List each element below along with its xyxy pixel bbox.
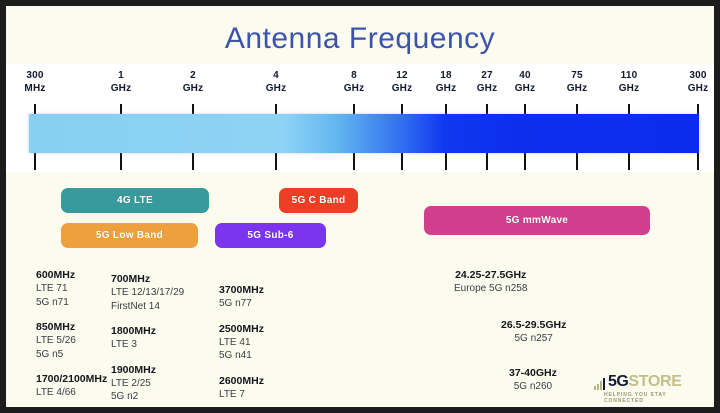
frequency-band-name: 5G n77 <box>219 297 264 311</box>
tick-value: 18 <box>440 70 452 81</box>
frequency-band-name: LTE 3 <box>111 338 184 352</box>
frequency-band-name: LTE 71 <box>36 282 107 296</box>
band-pill: 5G Low Band <box>61 223 198 248</box>
tick-value: 1 <box>118 70 124 81</box>
axis-tick-label: 300MHz <box>7 70 63 95</box>
frequency-entry: 37-40GHz5G n260 <box>509 366 557 394</box>
frequency-entry: 3700MHz5G n77 <box>219 283 264 311</box>
frequency-column: 700MHzLTE 12/13/17/29FirstNet 141800MHzL… <box>111 272 184 407</box>
frequency-column: 3700MHz5G n772500MHzLTE 415G n412600MHzL… <box>219 283 264 407</box>
frequency-value: 3700MHz <box>219 283 264 297</box>
frequency-band-name: LTE 4/66 <box>36 386 107 400</box>
frequency-band-name: 5G n5 <box>36 348 107 362</box>
frequency-entry: 700MHzLTE 12/13/17/29FirstNet 14 <box>111 272 184 313</box>
tick-value: 27 <box>481 70 493 81</box>
axis-tick-label: 2GHz <box>165 70 221 95</box>
frequency-band-name: 5G n2 <box>111 390 184 404</box>
antenna-frequency-infographic: Antenna Frequency 300MHz1GHz2GHz4GHz8GHz… <box>6 6 714 407</box>
frequency-column: 24.25-27.5GHzEurope 5G n258 <box>454 268 527 307</box>
tick-value: 12 <box>396 70 408 81</box>
tick-unit: GHz <box>93 83 149 96</box>
frequency-band-name: 5G n260 <box>509 380 557 394</box>
frequency-entry: 26.5-29.5GHz5G n257 <box>501 318 566 346</box>
band-pill: 5G Sub-6 <box>215 223 326 248</box>
tick-value: 75 <box>571 70 583 81</box>
frequency-band-name: LTE 41 <box>219 336 264 350</box>
frequency-entry: 850MHzLTE 5/265G n5 <box>36 320 107 361</box>
frequency-value: 1800MHz <box>111 324 184 338</box>
frequency-entry: 1800MHzLTE 3 <box>111 324 184 352</box>
logo-wordmark: 5G STORE <box>594 374 682 390</box>
signal-bars-icon <box>594 378 606 390</box>
page-title: Antenna Frequency <box>6 22 714 56</box>
brand-logo: 5G STORE HELPING YOU STAY CONNECTED <box>594 374 708 404</box>
frequency-band-name: LTE 12/13/17/29 <box>111 286 184 300</box>
frequency-band-name: LTE 5/26 <box>36 334 107 348</box>
frequency-value: 600MHz <box>36 268 107 282</box>
frequency-band-name: FirstNet 14 <box>111 300 184 314</box>
frequency-column: 600MHzLTE 715G n71850MHzLTE 5/265G n5170… <box>36 268 107 407</box>
logo-secondary-text: STORE <box>628 374 681 390</box>
tick-unit: GHz <box>165 83 221 96</box>
frequency-value: 700MHz <box>111 272 184 286</box>
tick-unit: GHz <box>248 83 304 96</box>
frequency-band-name: LTE 2/25 <box>111 377 184 391</box>
tick-unit: GHz <box>497 83 553 96</box>
frequency-entry: 1900MHzLTE 2/255G n2 <box>111 363 184 404</box>
axis-tick-label: 75GHz <box>549 70 605 95</box>
frequency-band-name: 5G n71 <box>36 296 107 310</box>
axis-tick-label: 1GHz <box>93 70 149 95</box>
frequency-value: 37-40GHz <box>509 366 557 380</box>
frequency-entry: 600MHzLTE 715G n71 <box>36 268 107 309</box>
band-pill: 5G mmWave <box>424 206 650 235</box>
frequency-value: 1900MHz <box>111 363 184 377</box>
frequency-band-name: 5G n41 <box>219 349 264 363</box>
logo-primary-text: 5G <box>608 374 628 390</box>
axis-tick-label: 110GHz <box>601 70 657 95</box>
logo-tagline: HELPING YOU STAY CONNECTED <box>604 392 708 404</box>
axis-tick-label: 4GHz <box>248 70 304 95</box>
frequency-value: 1700/2100MHz <box>36 372 107 386</box>
tick-value: 8 <box>351 70 357 81</box>
frequency-band-name: LTE 7 <box>219 388 264 402</box>
frequency-value: 850MHz <box>36 320 107 334</box>
tick-unit: GHz <box>601 83 657 96</box>
tick-unit: GHz <box>549 83 605 96</box>
tick-unit: MHz <box>7 83 63 96</box>
frequency-column: 37-40GHz5G n260 <box>509 366 557 405</box>
frequency-band-name: 5G n257 <box>501 332 566 346</box>
tick-value: 2 <box>190 70 196 81</box>
axis-tick-label: 40GHz <box>497 70 553 95</box>
frequency-entry: 24.25-27.5GHzEurope 5G n258 <box>454 268 527 296</box>
tick-value: 4 <box>273 70 279 81</box>
axis-tick-label: 300GHz <box>670 70 714 95</box>
frequency-value: 24.25-27.5GHz <box>454 268 527 282</box>
frequency-value: 2600MHz <box>219 374 264 388</box>
tick-value: 300 <box>26 70 43 81</box>
tick-value: 110 <box>621 70 638 81</box>
band-pill: 4G LTE <box>61 188 209 213</box>
tick-value: 300 <box>689 70 706 81</box>
tick-unit: GHz <box>670 83 714 96</box>
frequency-value: 26.5-29.5GHz <box>501 318 566 332</box>
frequency-entry: 1700/2100MHzLTE 4/66 <box>36 372 107 400</box>
frequency-entry: 2600MHzLTE 7 <box>219 374 264 402</box>
frequency-entry: 2500MHzLTE 415G n41 <box>219 322 264 363</box>
band-pill: 5G C Band <box>279 188 358 213</box>
frequency-column: 26.5-29.5GHz5G n257 <box>501 318 566 357</box>
tick-value: 40 <box>519 70 531 81</box>
frequency-spectrum-bar <box>29 114 699 153</box>
frequency-value: 2500MHz <box>219 322 264 336</box>
frequency-band-name: Europe 5G n258 <box>454 282 527 296</box>
